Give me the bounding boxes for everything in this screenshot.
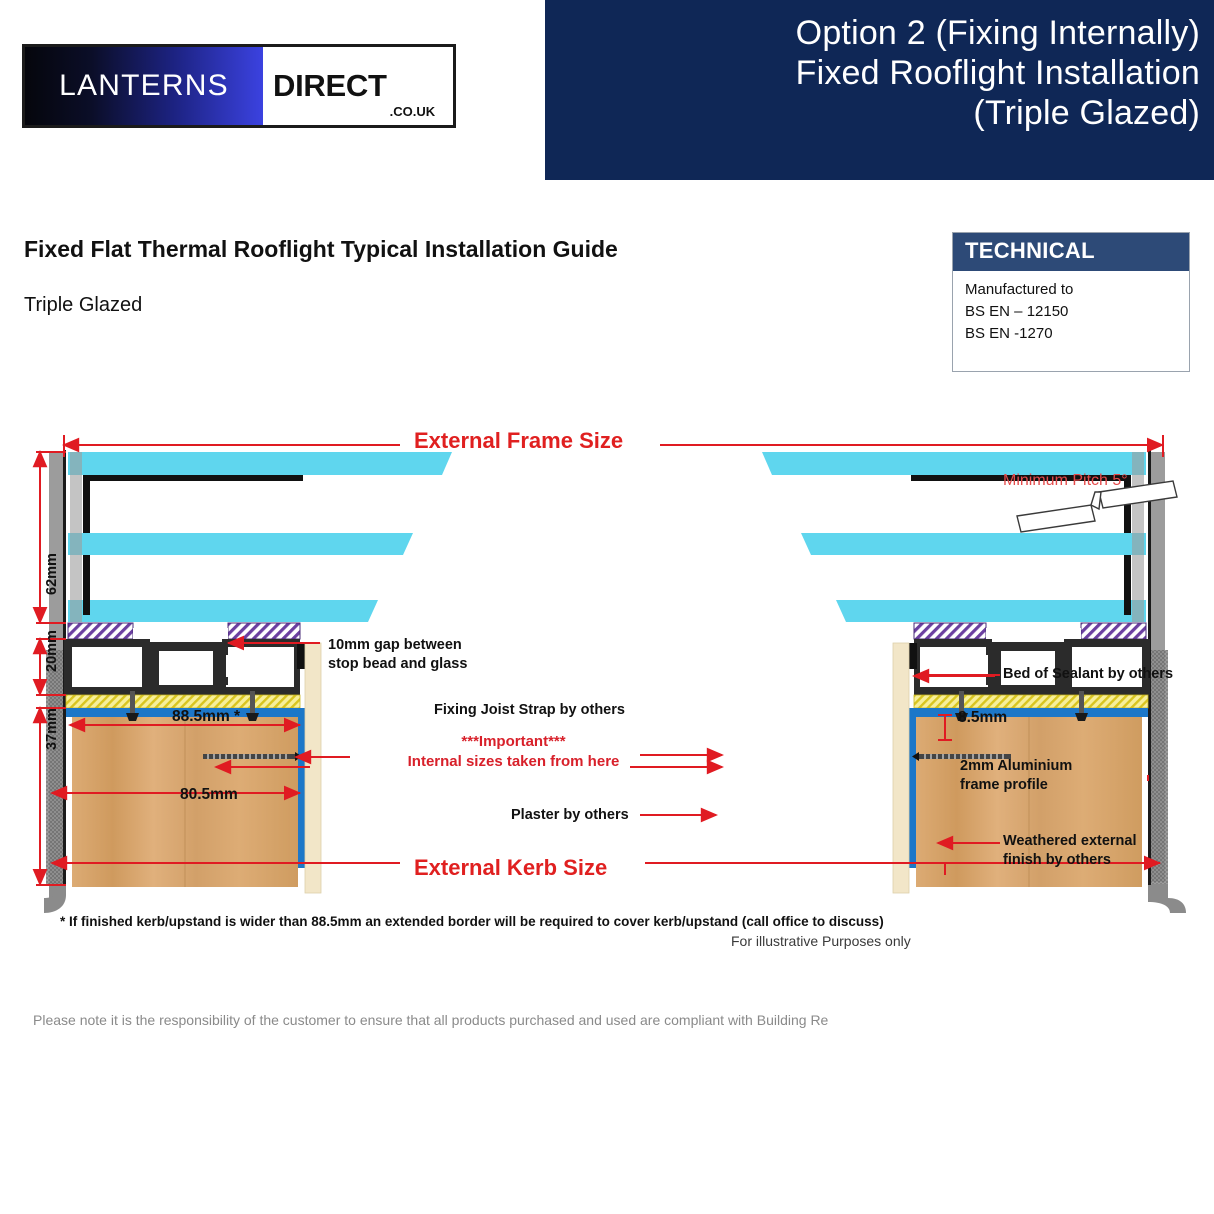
external-frame-size-label: External Frame Size <box>414 428 623 454</box>
callout-joist-strap: Fixing Joist Strap by others <box>434 701 625 720</box>
technical-heading: TECHNICAL <box>953 233 1189 271</box>
compliance-disclaimer: Please note it is the responsibility of … <box>33 1012 828 1028</box>
header-title: Option 2 (Fixing Internally) Fixed Roofl… <box>560 14 1200 133</box>
callout-important-text: Internal sizes taken from here <box>406 752 621 772</box>
technical-line-1: Manufactured to <box>965 279 1177 301</box>
technical-box: TECHNICAL Manufactured to BS EN – 12150 … <box>952 232 1190 372</box>
horizontal-dim-80-5mm: 80.5mm <box>180 786 238 804</box>
callout-important-heading: ***Important*** <box>406 732 621 752</box>
logo-tld-text: .CO.UK <box>390 104 436 119</box>
header-title-line-1: Option 2 (Fixing Internally) <box>560 14 1200 54</box>
vertical-dim-20mm: 20mm <box>44 630 60 672</box>
brand-logo: LANTERNS DIRECT .CO.UK <box>22 44 456 128</box>
callout-stop-bead: 10mm gap between stop bead and glass <box>328 636 467 674</box>
vertical-dim-37mm: 37mm <box>44 708 60 750</box>
footnote-kerb-width: * If finished kerb/upstand is wider than… <box>60 912 884 933</box>
technical-body: Manufactured to BS EN – 12150 BS EN -127… <box>953 271 1189 350</box>
logo-direct-text: DIRECT <box>273 68 387 104</box>
horizontal-dim-88-5mm: 88.5mm * <box>172 708 240 726</box>
callout-weathered-finish: Weathered external finish by others <box>1003 832 1137 870</box>
installation-guide-page: Option 2 (Fixing Internally) Fixed Roofl… <box>0 0 1214 1214</box>
callout-plaster: Plaster by others <box>511 806 629 825</box>
header-title-line-3: (Triple Glazed) <box>560 94 1200 134</box>
illustrative-note: For illustrative Purposes only <box>731 933 911 949</box>
left-assembly <box>44 450 452 913</box>
external-kerb-size-label: External Kerb Size <box>414 855 607 881</box>
logo-lanterns-text: LANTERNS <box>59 69 229 103</box>
logo-direct-block: DIRECT .CO.UK <box>263 47 453 125</box>
page-subtitle: Triple Glazed <box>24 294 142 317</box>
header-title-line-2: Fixed Rooflight Installation <box>560 54 1200 94</box>
logo-lanterns-block: LANTERNS <box>25 47 263 125</box>
right-dim-8-5mm: 8.5mm <box>958 709 1007 727</box>
callout-aluminium-profile: 2mm Aluminium frame profile <box>960 757 1072 795</box>
minimum-pitch-label: Minimum Pitch 5° <box>1003 472 1128 490</box>
page-title: Fixed Flat Thermal Rooflight Typical Ins… <box>24 236 618 263</box>
technical-line-3: BS EN -1270 <box>965 323 1177 345</box>
vertical-dim-62mm: 62mm <box>44 553 60 595</box>
callout-sealant: Bed of Sealant by others <box>1003 665 1173 684</box>
aluminium-frame-profile-left <box>64 639 300 695</box>
technical-line-2: BS EN – 12150 <box>965 301 1177 323</box>
